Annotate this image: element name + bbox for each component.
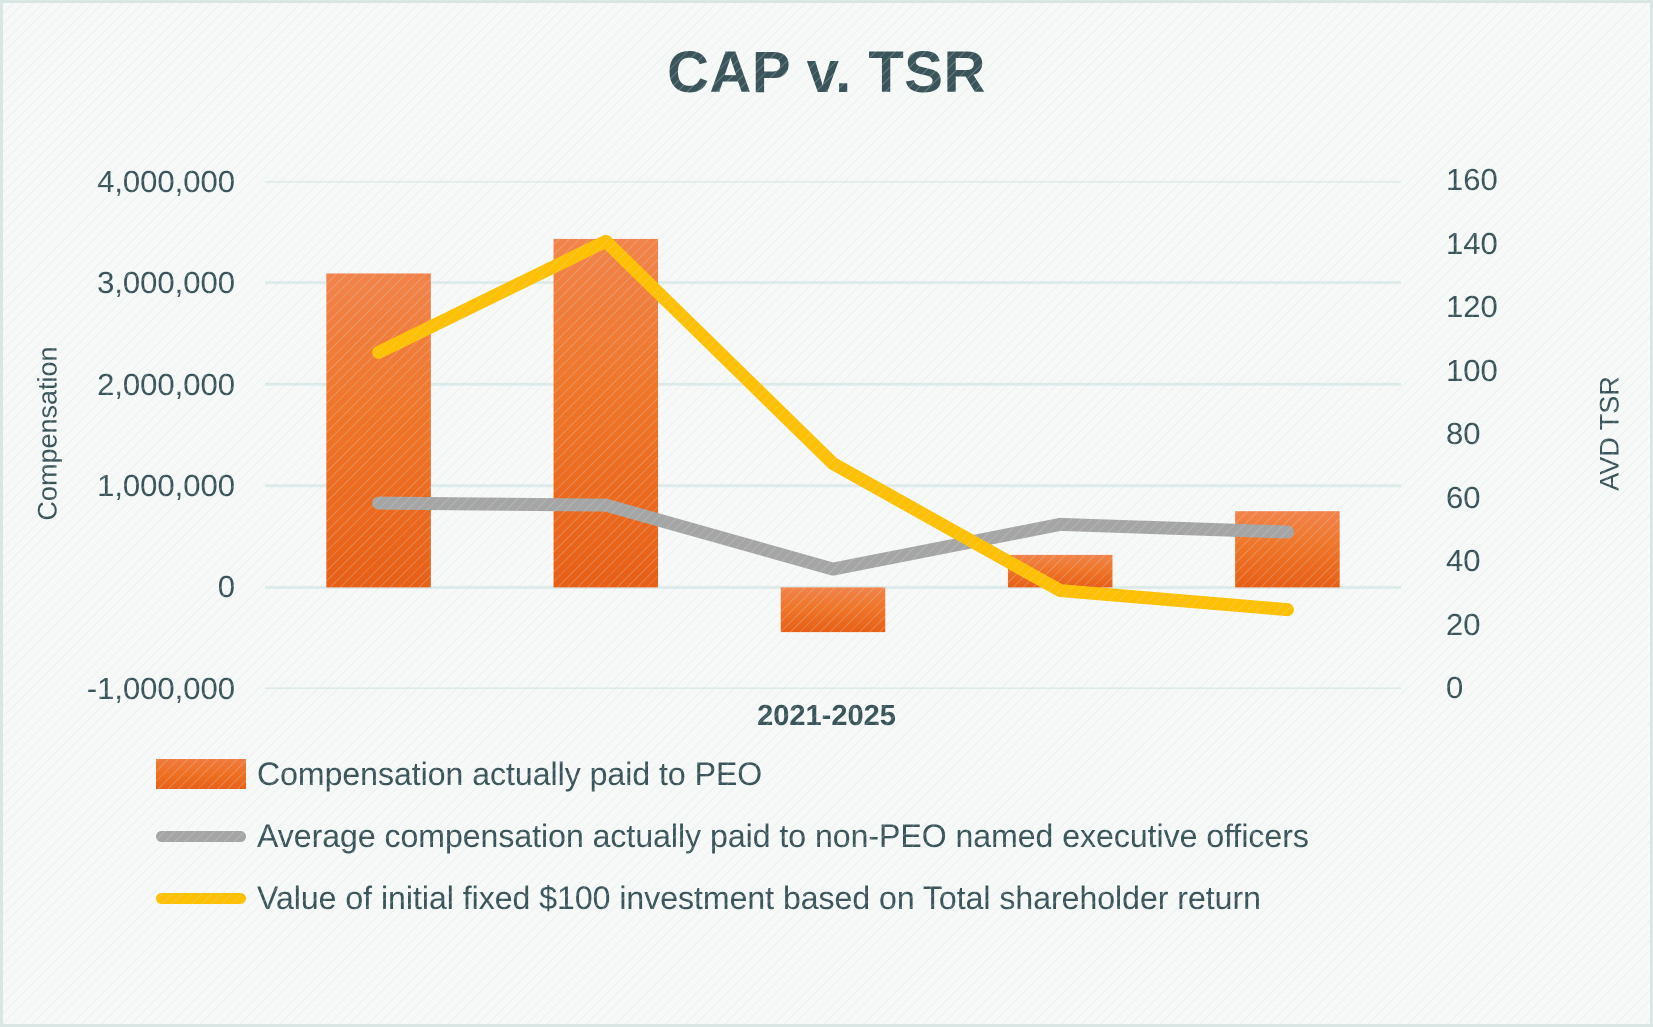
y-axis-left-title: Compensation <box>33 294 64 574</box>
y-axis-left-tick: 2,000,000 <box>97 369 235 400</box>
bar[interactable] <box>554 239 659 587</box>
legend-label: Average compensation actually paid to no… <box>257 818 1309 855</box>
y-axis-left-tick: 1,000,000 <box>97 470 235 501</box>
legend-label: Value of initial fixed $100 investment b… <box>257 880 1261 917</box>
y-axis-right-title: AVD TSR <box>1595 294 1626 574</box>
bar[interactable] <box>326 273 431 587</box>
plot-svg <box>265 181 1401 689</box>
y-axis-left-tick: 0 <box>218 571 235 602</box>
legend-label: Compensation actually paid to PEO <box>257 756 762 793</box>
y-axis-right-tick: 140 <box>1446 228 1498 259</box>
plot-area <box>265 181 1401 689</box>
legend-swatch-line-gray-icon <box>153 816 249 856</box>
line-path[interactable] <box>379 241 1288 609</box>
legend-item-avg-non-peo[interactable]: Average compensation actually paid to no… <box>153 805 1309 867</box>
line-series <box>379 241 1288 609</box>
y-axis-left-tick: -1,000,000 <box>87 673 235 704</box>
y-axis-right-tick: 60 <box>1446 482 1480 513</box>
bar[interactable] <box>781 587 886 632</box>
bar[interactable] <box>1235 511 1340 587</box>
y-axis-right-tick: 0 <box>1446 672 1463 703</box>
y-axis-left-tick: 3,000,000 <box>97 267 235 298</box>
line-path[interactable] <box>379 503 1288 569</box>
legend-item-cap-peo[interactable]: Compensation actually paid to PEO <box>153 743 1309 805</box>
y-axis-right-tick: 20 <box>1446 609 1480 640</box>
y-axis-right-tick: 160 <box>1446 164 1498 195</box>
legend-swatch-bar-icon <box>153 754 249 794</box>
y-axis-right-tick: 80 <box>1446 418 1480 449</box>
y-axis-right-tick: 40 <box>1446 545 1480 576</box>
y-axis-left-tick: 4,000,000 <box>97 166 235 197</box>
legend-item-tsr[interactable]: Value of initial fixed $100 investment b… <box>153 867 1309 929</box>
x-axis-title: 2021-2025 <box>3 700 1650 733</box>
y-axis-right-tick: 120 <box>1446 291 1498 322</box>
chart-legend: Compensation actually paid to PEO Averag… <box>153 743 1309 929</box>
y-axis-right-tick: 100 <box>1446 355 1498 386</box>
chart-canvas: CAP v. TSR Compensation AVD TSR 2021-202… <box>0 0 1653 1027</box>
chart-title: CAP v. TSR <box>3 39 1650 106</box>
legend-swatch-line-yellow-icon <box>153 878 249 918</box>
